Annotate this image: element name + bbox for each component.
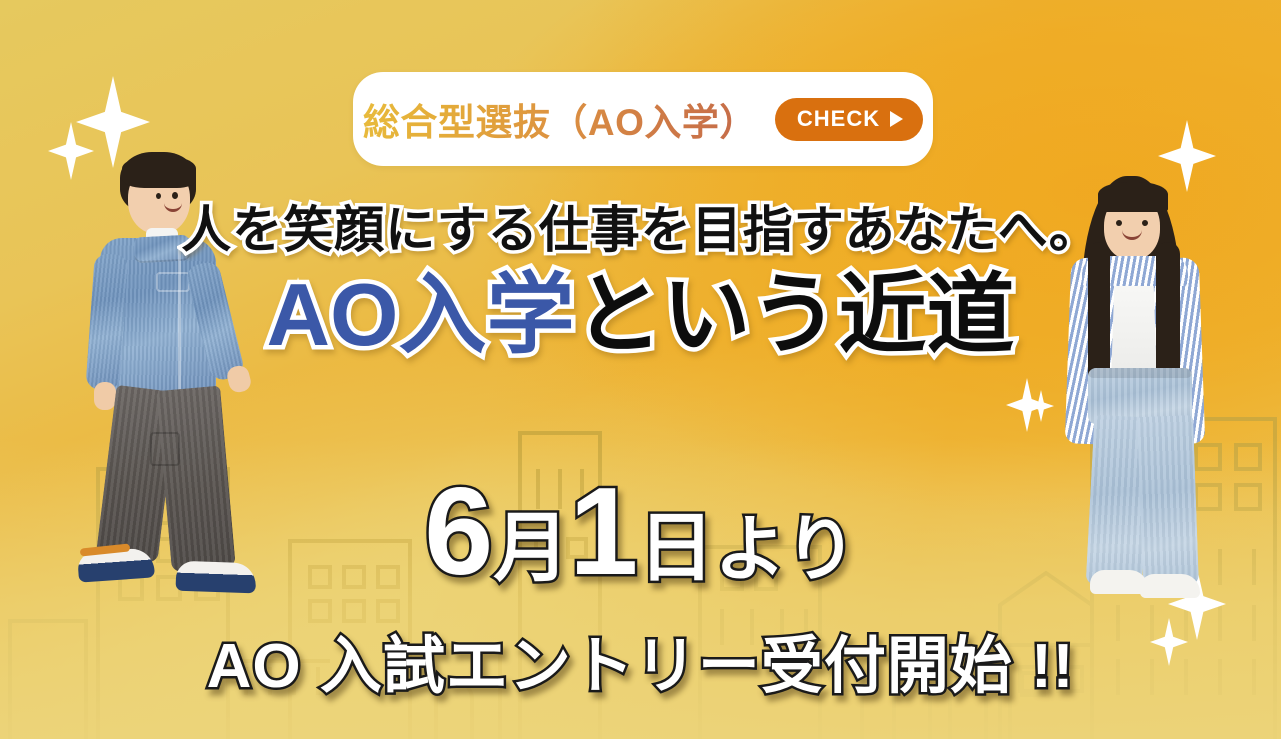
admission-type-badge: 総合型選抜（AO入学） CHECK <box>353 72 933 166</box>
left-student-illustration <box>60 150 290 610</box>
check-button-label: CHECK <box>797 106 880 132</box>
admission-type-label: 総合型選抜（AO入学） <box>363 92 757 146</box>
check-button[interactable]: CHECK <box>775 98 923 141</box>
ao-admission-banner: 総合型選抜（AO入学） CHECK 人を笑顔にする仕事を目指すあなたへ。 AO入… <box>0 0 1281 739</box>
right-student-illustration <box>1048 172 1238 592</box>
play-triangle-icon <box>890 111 903 127</box>
